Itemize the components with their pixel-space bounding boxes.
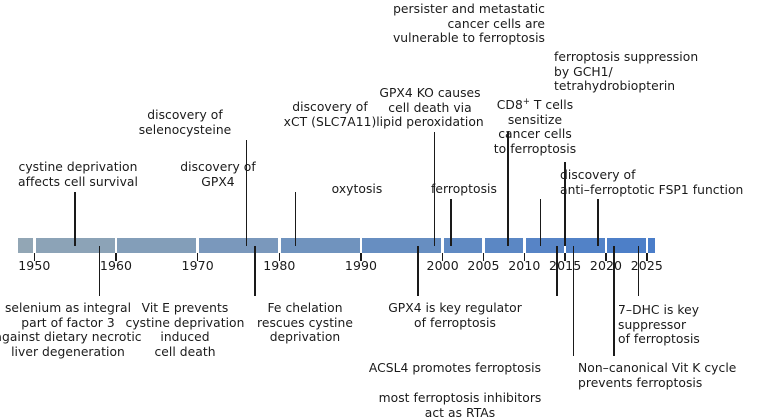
axis-bar-segment <box>18 238 33 253</box>
timeline-axis-bar <box>18 238 655 253</box>
connector-oxytosis <box>450 199 452 246</box>
axis-bar-segment <box>199 238 278 253</box>
connector-gpx4-is-key-regulator-of-ferroptosis <box>556 246 558 296</box>
axis-year-label-1950: 1950 <box>18 258 50 273</box>
axis-year-label-2020: 2020 <box>590 258 622 273</box>
axis-year-label-2005: 2005 <box>467 258 499 273</box>
annotation-discovery-of-gpx4: discovery of GPX4 <box>180 160 255 189</box>
axis-bar-segment <box>281 238 360 253</box>
axis-bar-segment <box>485 238 523 253</box>
connector-acsl4-promotes-ferroptosis <box>573 246 575 356</box>
annotation-oxytosis: oxytosis <box>332 182 383 197</box>
connector-vit-e-prevents-cystine-deprivation-induced-cell-death <box>254 246 256 296</box>
axis-bar-segment <box>362 238 441 253</box>
connector-discovery-of-selenocysteine <box>246 140 248 246</box>
ferroptosis-timeline-figure: 1950196019701980199020002005201020152020… <box>0 0 764 418</box>
connector-fe-chelation-rescues-cystine-deprivation <box>417 246 419 296</box>
axis-bar-segment <box>526 238 564 253</box>
annotation-discovery-of-xct-slc7a11: discovery of xCT (SLC7A11) <box>284 100 377 129</box>
axis-year-label-2025: 2025 <box>631 258 663 273</box>
connector-discovery-of-gpx4 <box>295 192 297 246</box>
annotation-selenium-as-integral-part-of-factor-3: selenium as integral part of factor 3 ag… <box>0 301 142 359</box>
connector-selenium-as-integral-part-of-factor-3 <box>99 246 101 296</box>
annotation-non-canonical-vit-k-cycle-prevents-ferroptosis: Non–canonical Vit K cycle prevents ferro… <box>578 361 736 390</box>
axis-bar-segment <box>117 238 196 253</box>
annotation-most-ferroptosis-inhibitors-act-as-rtas: most ferroptosis inhibitors act as RTAs <box>379 391 542 418</box>
annotation-7-dhc-is-key-suppressor-of-ferroptosis: 7–DHC is key suppressor of ferroptosis <box>618 303 764 347</box>
annotation-discovery-of-anti-ferroptotic-fsp1: discovery of anti–ferroptotic FSP1 funct… <box>560 168 743 197</box>
connector-discovery-of-anti-ferroptotic-fsp1 <box>597 199 599 246</box>
annotation-cystine-deprivation-affects-cell-survival: cystine deprivation affects cell surviva… <box>18 160 138 189</box>
connector-cystine-deprivation-affects-cell-survival <box>74 192 76 246</box>
axis-year-label-2015: 2015 <box>549 258 581 273</box>
superscript-plus: + <box>523 96 530 106</box>
axis-year-label-1960: 1960 <box>100 258 132 273</box>
axis-year-label-1990: 1990 <box>345 258 377 273</box>
annotation-discovery-of-selenocysteine: discovery of selenocysteine <box>139 108 232 137</box>
axis-bar-segment <box>648 238 655 253</box>
annotation-ferroptosis: ferroptosis <box>431 182 497 197</box>
annotation-fe-chelation-rescues-cystine-deprivation: Fe chelation rescues cystine deprivation <box>257 301 353 345</box>
connector-ferroptosis <box>540 199 542 246</box>
axis-year-label-2010: 2010 <box>508 258 540 273</box>
annotation-gpx4-ko-causes-cell-death: GPX4 KO causes cell death via lipid pero… <box>376 86 484 130</box>
annotation-cd8-t-cells-sensitize-cancer-cells: CD8+ T cells sensitize cancer cells to f… <box>494 98 576 156</box>
annotation-persister-and-metastatic-cancer-cells: persister and metastatic cancer cells ar… <box>393 2 545 46</box>
annotation-acsl4-promotes-ferroptosis: ACSL4 promotes ferroptosis <box>369 361 541 376</box>
axis-year-label-2000: 2000 <box>427 258 459 273</box>
connector-non-canonical-vit-k-cycle-prevents-ferroptosis <box>613 246 615 356</box>
annotation-vit-e-prevents-cystine-deprivation-induced-cell-death: Vit E prevents cystine deprivation induc… <box>126 301 245 359</box>
axis-year-label-1970: 1970 <box>182 258 214 273</box>
axis-year-label-1980: 1980 <box>263 258 295 273</box>
annotation-ferroptosis-suppression-gch1: ferroptosis suppression by GCH1/ tetrahy… <box>554 50 698 94</box>
connector-7-dhc-is-key-suppressor-of-ferroptosis <box>638 246 640 296</box>
annotation-gpx4-is-key-regulator-of-ferroptosis: GPX4 is key regulator of ferroptosis <box>388 301 522 330</box>
